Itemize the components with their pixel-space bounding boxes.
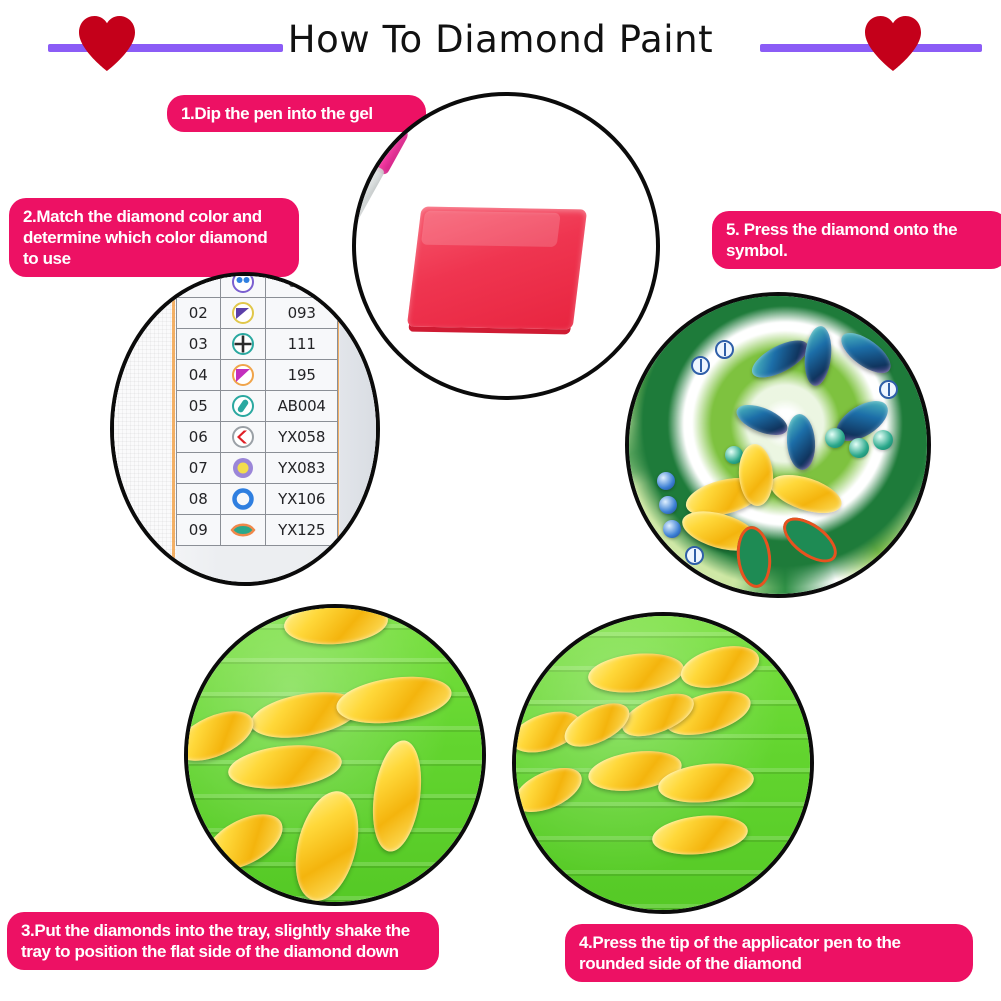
color-code: YX083: [266, 453, 338, 484]
diamond-color-chart-scene: 028 02 093 03 111 04: [114, 276, 376, 582]
placed-diamond: [663, 520, 681, 538]
table-row: 04 195: [177, 360, 338, 391]
table-row: 03 111: [177, 329, 338, 360]
canvas-weave-texture: [114, 276, 176, 582]
table-row: 09 YX125: [177, 515, 338, 546]
pen-dipping-into-gel-pad-scene: [356, 96, 656, 396]
magenta-triangle-symbol: [220, 360, 266, 391]
table-row: 07 YX083: [177, 453, 338, 484]
placed-diamond: [873, 430, 893, 450]
step-4-photo: [512, 612, 814, 914]
step-2-label: 2.Match the diamond color and determine …: [10, 199, 298, 276]
placing-diamond-on-canvas-scene: [629, 296, 927, 594]
row-number: 02: [177, 298, 221, 329]
step-5-label: 5. Press the diamond onto the symbol.: [713, 212, 1001, 268]
table-row: 05 AB004: [177, 391, 338, 422]
step-1-photo: [352, 92, 660, 400]
yellow-diamonds-in-green-tray-scene: [188, 608, 482, 902]
color-code: 195: [266, 360, 338, 391]
double-dot-circle-symbol: [220, 272, 266, 298]
table-row: 06 YX058: [177, 422, 338, 453]
color-chart-table: 028 02 093 03 111 04: [176, 272, 338, 546]
canvas-symbol: [715, 340, 734, 359]
color-code: 093: [266, 298, 338, 329]
teal-slash-circle-symbol: [220, 391, 266, 422]
color-code: 111: [266, 329, 338, 360]
step-4-label: 4.Press the tip of the applicator pen to…: [566, 925, 972, 981]
placed-diamond: [849, 438, 869, 458]
row-number: 06: [177, 422, 221, 453]
step-2-photo: 028 02 093 03 111 04: [110, 272, 380, 586]
table-row: 08 YX106: [177, 484, 338, 515]
purple-triangle-symbol: [220, 298, 266, 329]
yellow-dot-ring-symbol: [220, 453, 266, 484]
page-header: How To Diamond Paint: [0, 0, 1001, 82]
canvas-symbol: [685, 546, 704, 565]
orange-guide-line: [172, 276, 175, 582]
placed-diamond: [825, 428, 845, 448]
step-3-label: 3.Put the diamonds into the tray, slight…: [8, 913, 438, 969]
row-number: 07: [177, 453, 221, 484]
row-number: 09: [177, 515, 221, 546]
pen-picking-up-diamond-scene: [516, 616, 810, 910]
row-number: 08: [177, 484, 221, 515]
placed-diamond: [657, 472, 675, 490]
canvas-symbol: [691, 356, 710, 375]
row-number: 05: [177, 391, 221, 422]
canvas-symbol: [879, 380, 898, 399]
red-gel-pad: [407, 207, 587, 330]
pen-barrel: [352, 155, 385, 251]
color-code: 028: [266, 272, 338, 298]
placed-diamond: [659, 496, 677, 514]
chart-right-margin: [340, 276, 376, 582]
row-number: 03: [177, 329, 221, 360]
color-code: YX058: [266, 422, 338, 453]
blue-ring-symbol: [220, 484, 266, 515]
plus-circle-symbol: [220, 329, 266, 360]
table-row: 02 093: [177, 298, 338, 329]
table-row: 028: [177, 272, 338, 298]
color-code: YX106: [266, 484, 338, 515]
step-3-photo: [184, 604, 486, 906]
step-5-photo: [625, 292, 931, 598]
page-title: How To Diamond Paint: [0, 18, 1001, 62]
color-code: YX125: [266, 515, 338, 546]
red-arrow-circle-symbol: [220, 422, 266, 453]
row-number: [177, 272, 221, 298]
teal-leaf-symbol: [220, 515, 266, 546]
row-number: 04: [177, 360, 221, 391]
color-code: AB004: [266, 391, 338, 422]
